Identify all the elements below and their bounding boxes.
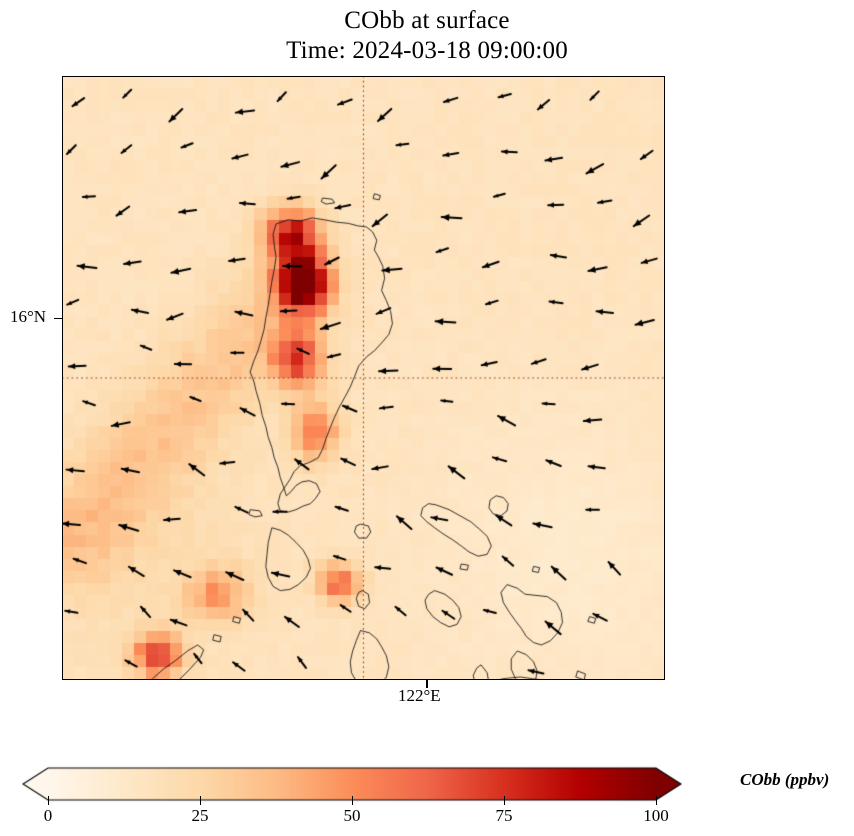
figure-canvas: CObb at surface Time: 2024-03-18 09:00:0… [0, 0, 854, 836]
figure-title: CObb at surface Time: 2024-03-18 09:00:0… [0, 6, 854, 65]
colorbar: 0255075100 CObb (ppbv) [0, 762, 854, 836]
colorbar-tick-mark [504, 796, 505, 805]
y-tick-label-16n: 16°N [10, 307, 46, 327]
x-tick-label-122e: 122°E [398, 686, 441, 706]
colorbar-tick-label: 50 [344, 806, 361, 826]
y-tick-mark [54, 318, 62, 320]
colorbar-tick-label: 100 [643, 806, 669, 826]
colorbar-tick-label: 0 [44, 806, 53, 826]
colorbar-tick-mark [656, 796, 657, 805]
title-line-time: Time: 2024-03-18 09:00:00 [0, 36, 854, 66]
axes-frame [62, 76, 665, 680]
colorbar-tick-mark [48, 796, 49, 805]
colorbar-tick-label: 25 [192, 806, 209, 826]
colorbar-tick-mark [352, 796, 353, 805]
colorbar-tick-label: 75 [496, 806, 513, 826]
colorbar-tick-mark [200, 796, 201, 805]
title-line-variable: CObb at surface [0, 6, 854, 36]
colorbar-label: CObb (ppbv) [740, 770, 829, 790]
